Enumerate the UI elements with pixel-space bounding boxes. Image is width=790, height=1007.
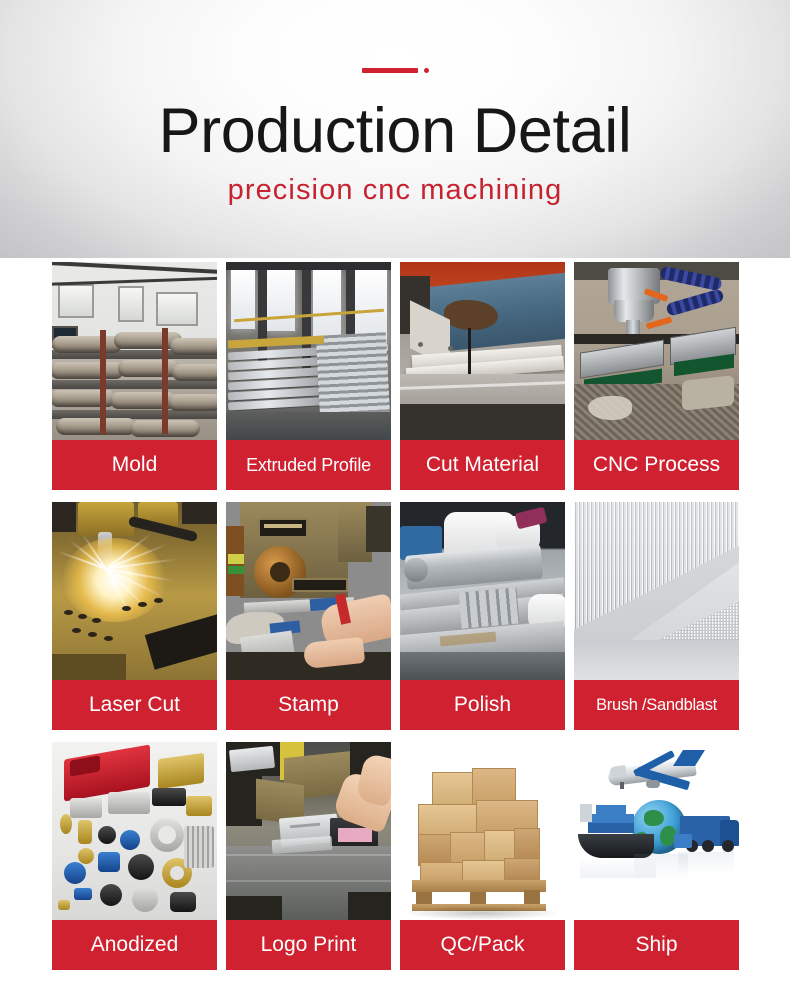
production-detail-banner: Production Detail precision cnc machinin…	[0, 0, 790, 1007]
process-tile-qc-pack[interactable]: QC/Pack	[400, 742, 565, 970]
header-decoration	[0, 62, 790, 78]
tile-caption: Laser Cut	[52, 680, 217, 730]
tile-caption: QC/Pack	[400, 920, 565, 970]
process-tile-laser-cut[interactable]: Laser Cut	[52, 502, 217, 730]
process-tile-cut-material[interactable]: Cut Material	[400, 262, 565, 490]
stamping-press-operator-photo	[226, 502, 391, 680]
cnc-milling-spindle-photo	[574, 262, 739, 440]
laser-cutting-sparks-photo	[52, 502, 217, 680]
warehouse-mold-racks-photo	[52, 262, 217, 440]
process-tile-anodized[interactable]: Anodized	[52, 742, 217, 970]
pad-printing-logo-photo	[226, 742, 391, 920]
cutting-saw-machine-photo	[400, 262, 565, 440]
tile-caption: Polish	[400, 680, 565, 730]
hand-polishing-profile-photo	[400, 502, 565, 680]
process-tile-mold[interactable]: Mold	[52, 262, 217, 490]
process-step-grid: Mold	[52, 262, 738, 970]
process-tile-cnc-process[interactable]: CNC Process	[574, 262, 739, 490]
tile-caption: Mold	[52, 440, 217, 490]
tile-caption: Ship	[574, 920, 739, 970]
cartons-on-pallet-photo	[400, 742, 565, 920]
page-title: Production Detail	[0, 93, 790, 169]
process-tile-logo-print[interactable]: Logo Print	[226, 742, 391, 970]
anodized-color-parts-photo	[52, 742, 217, 920]
red-dot-icon	[424, 68, 429, 73]
red-bar-icon	[362, 68, 418, 73]
process-tile-polish[interactable]: Polish	[400, 502, 565, 730]
brushed-sandblasted-metal-photo	[574, 502, 739, 680]
banner-header: Production Detail precision cnc machinin…	[0, 0, 790, 258]
process-tile-ship[interactable]: Ship	[574, 742, 739, 970]
process-tile-stamp[interactable]: Stamp	[226, 502, 391, 730]
tile-caption: CNC Process	[574, 440, 739, 490]
tile-caption: Stamp	[226, 680, 391, 730]
tile-caption: Anodized	[52, 920, 217, 970]
tile-caption: Cut Material	[400, 440, 565, 490]
aluminum-extrusion-stack-photo	[226, 262, 391, 440]
tile-caption: Brush /Sandblast	[574, 680, 739, 730]
tile-caption: Logo Print	[226, 920, 391, 970]
plane-ship-truck-globe-photo	[574, 742, 739, 920]
tile-caption: Extruded Profile	[226, 440, 391, 490]
process-tile-extruded-profile[interactable]: Extruded Profile	[226, 262, 391, 490]
process-tile-brush-sandblast[interactable]: Brush /Sandblast	[574, 502, 739, 730]
page-subtitle: precision cnc machining	[0, 170, 790, 210]
